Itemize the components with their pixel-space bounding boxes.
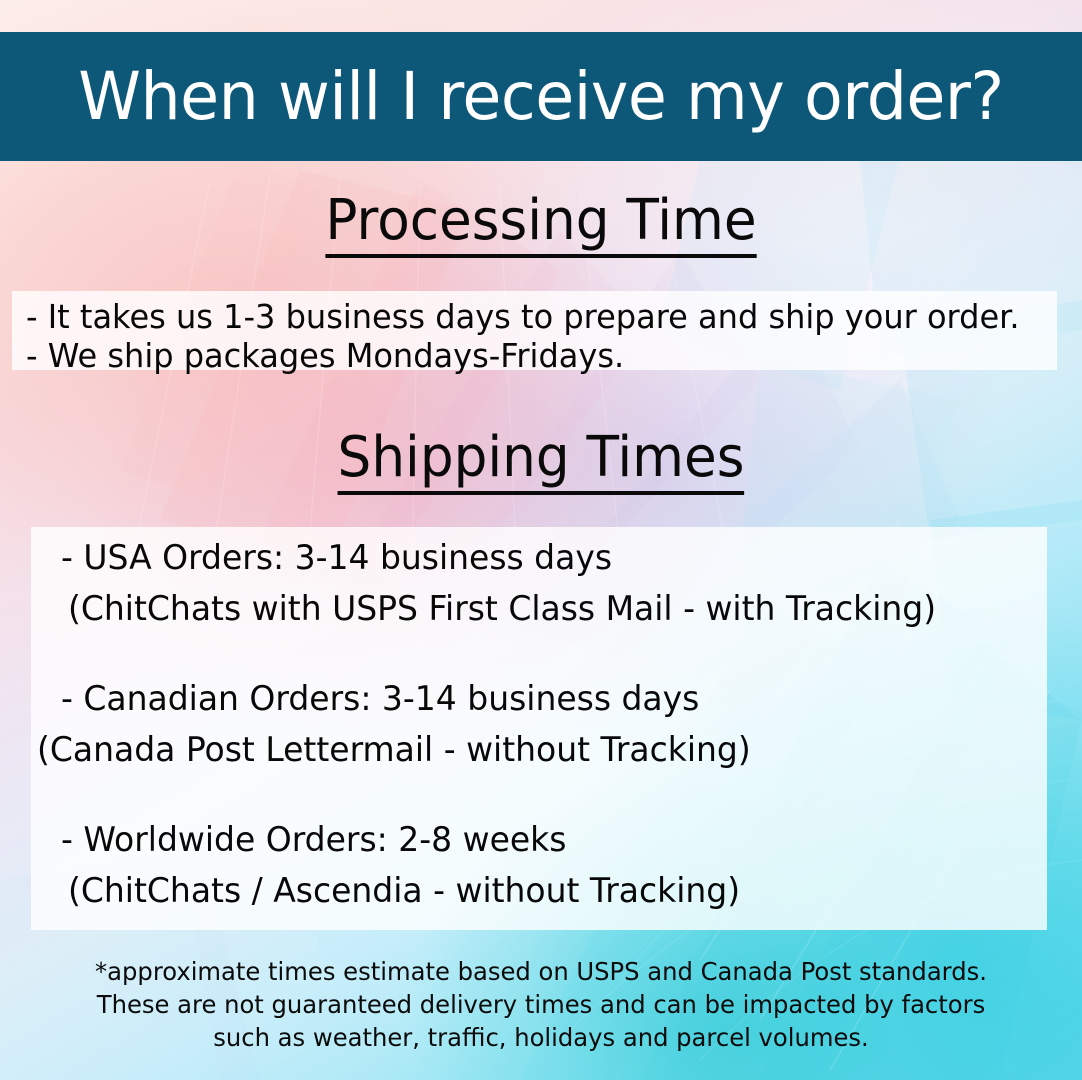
shipping-usa-sub: (ChitChats with USPS First Class Mail - … (68, 592, 936, 626)
processing-time-panel: - It takes us 1-3 business days to prepa… (12, 291, 1057, 370)
shipping-worldwide-sub: (ChitChats / Ascendia - without Tracking… (68, 874, 740, 908)
shipping-times-panel: - USA Orders: 3-14 business days (ChitCh… (31, 527, 1047, 930)
processing-line-2: - We ship packages Mondays-Fridays. (26, 339, 624, 372)
footer-line-3: such as weather, traffic, holidays and p… (16, 1021, 1066, 1054)
page-title: When will I receive my order? (78, 64, 1003, 130)
shipping-canada-sub: (Canada Post Lettermail - without Tracki… (37, 733, 751, 767)
footer-line-1: *approximate times estimate based on USP… (16, 955, 1066, 988)
shipping-policy-poster: When will I receive my order? Processing… (0, 0, 1082, 1080)
shipping-usa-main: - USA Orders: 3-14 business days (61, 541, 612, 575)
footer-disclaimer: *approximate times estimate based on USP… (0, 955, 1082, 1054)
shipping-times-heading: Shipping Times (338, 430, 745, 495)
shipping-canada-main: - Canadian Orders: 3-14 business days (61, 682, 699, 716)
processing-line-1: - It takes us 1-3 business days to prepa… (26, 300, 1020, 333)
header-banner: When will I receive my order? (0, 32, 1082, 161)
processing-time-heading: Processing Time (325, 193, 756, 258)
shipping-worldwide-main: - Worldwide Orders: 2-8 weeks (61, 823, 566, 857)
footer-line-2: These are not guaranteed delivery times … (16, 988, 1066, 1021)
